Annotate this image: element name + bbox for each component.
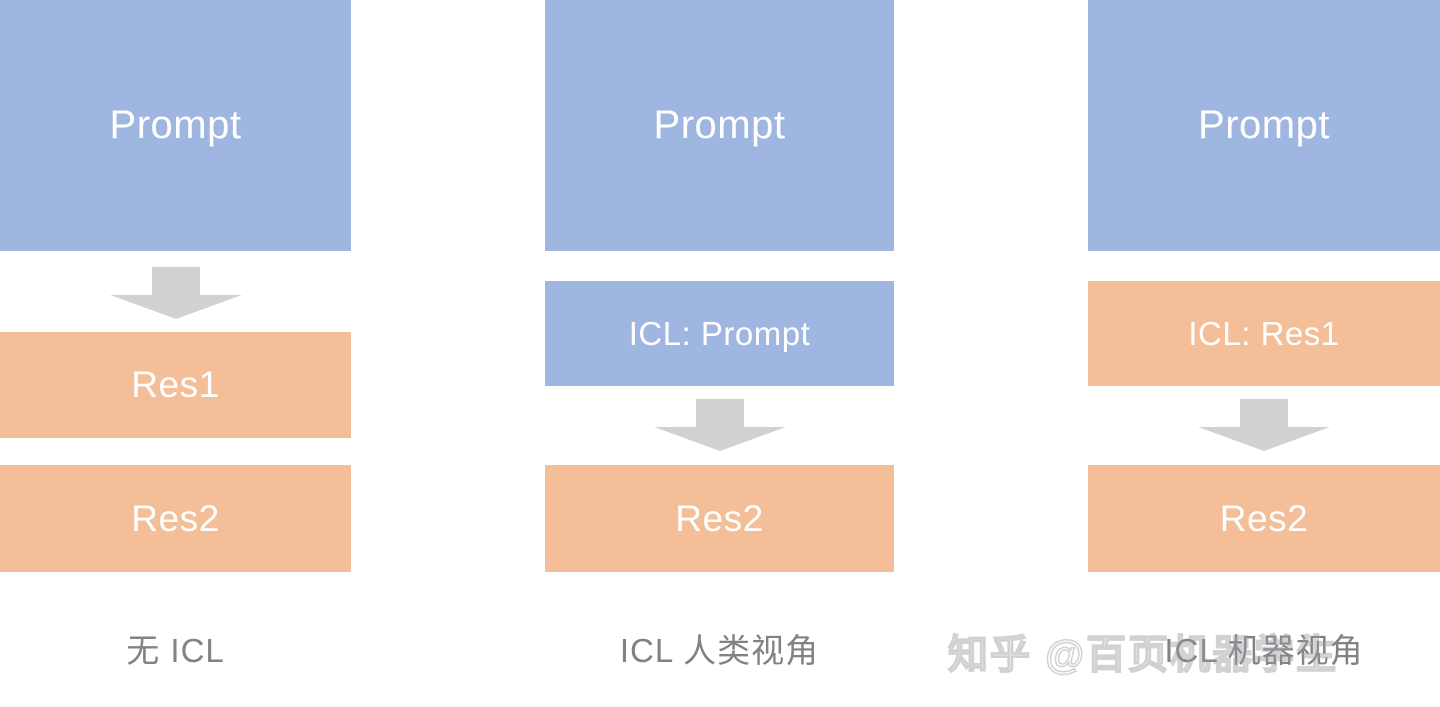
res2-box: Res2: [0, 465, 351, 572]
diagram-canvas: Prompt Res1 Res2 无 ICL Prompt ICL: Promp…: [0, 0, 1440, 707]
res1-box: Res1: [0, 332, 351, 438]
down-arrow-icon: [1198, 399, 1330, 451]
icl-prompt-box-label: ICL: Prompt: [629, 315, 811, 353]
res2-box-label: Res2: [675, 498, 763, 540]
prompt-box-label: Prompt: [654, 103, 786, 148]
column-caption-no-icl: 无 ICL: [0, 624, 351, 672]
res2-box: Res2: [1088, 465, 1440, 572]
prompt-box: Prompt: [0, 0, 351, 251]
prompt-box: Prompt: [1088, 0, 1440, 251]
down-arrow-icon: [110, 267, 242, 319]
prompt-box-label: Prompt: [110, 103, 242, 148]
res1-box-label: Res1: [131, 364, 219, 406]
column-icl-machine-view: Prompt ICL: Res1 Res2 ICL 机器视角: [1088, 0, 1440, 707]
column-no-icl: Prompt Res1 Res2 无 ICL: [0, 0, 351, 707]
down-arrow-icon: [654, 399, 786, 451]
column-icl-human-view: Prompt ICL: Prompt Res2 ICL 人类视角: [545, 0, 894, 707]
icl-res1-box-label: ICL: Res1: [1188, 315, 1339, 353]
column-caption-icl-human-view: ICL 人类视角: [545, 624, 894, 672]
icl-res1-box: ICL: Res1: [1088, 281, 1440, 386]
prompt-box-label: Prompt: [1198, 103, 1330, 148]
res2-box-label: Res2: [131, 498, 219, 540]
res2-box: Res2: [545, 465, 894, 572]
prompt-box: Prompt: [545, 0, 894, 251]
column-caption-icl-machine-view: ICL 机器视角: [1088, 624, 1440, 672]
res2-box-label: Res2: [1220, 498, 1308, 540]
icl-prompt-box: ICL: Prompt: [545, 281, 894, 386]
